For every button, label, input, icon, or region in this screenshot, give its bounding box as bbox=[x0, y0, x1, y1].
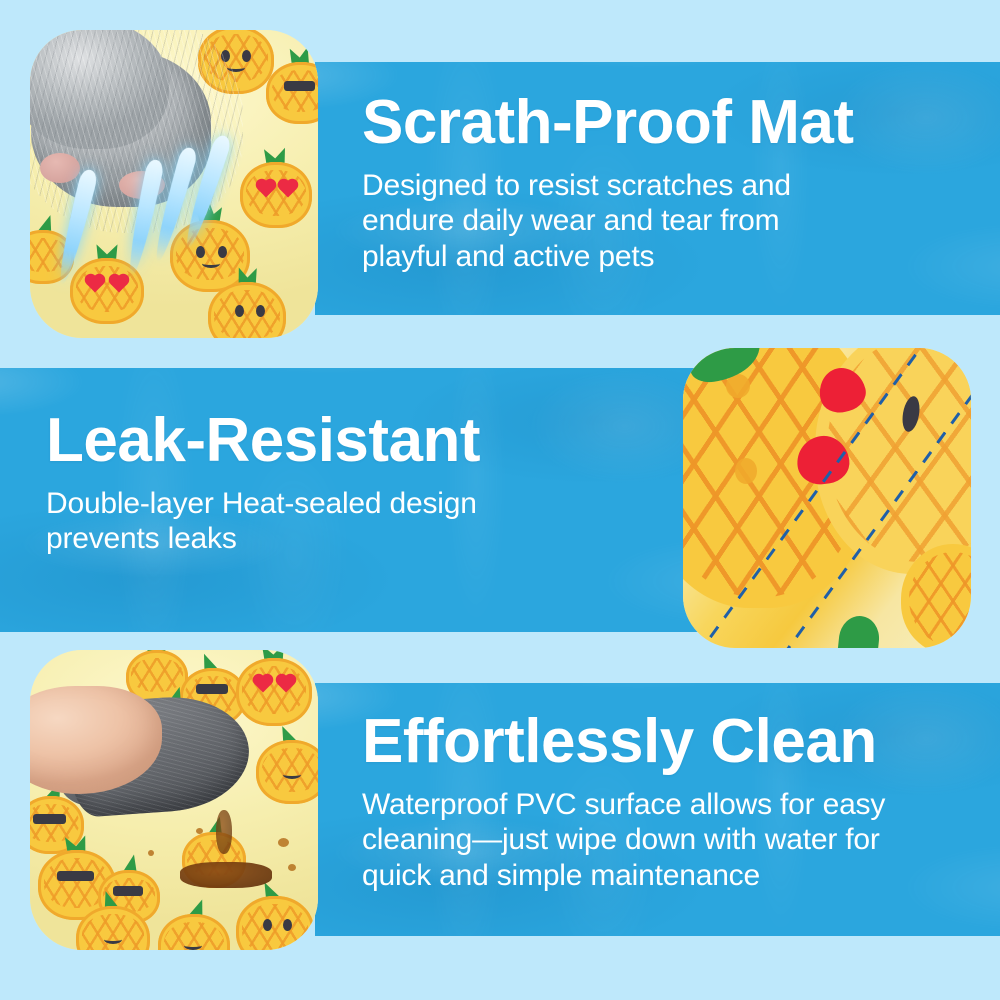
feature-image-1 bbox=[30, 30, 318, 338]
feature-headline-1: Scrath-Proof Mat bbox=[362, 92, 962, 154]
feature-headline-2: Leak-Resistant bbox=[46, 410, 666, 472]
feature-body-3: Waterproof PVC surface allows for easy c… bbox=[362, 787, 942, 893]
feature-panel-effortlessly-clean: Effortlessly Clean Waterproof PVC surfac… bbox=[0, 683, 1000, 936]
feature-text-2: Leak-Resistant Double-layer Heat-sealed … bbox=[46, 410, 666, 557]
feature-image-3 bbox=[30, 650, 318, 950]
spilled-liquid bbox=[180, 862, 272, 888]
feature-image-2 bbox=[683, 348, 971, 648]
feature-body-2: Double-layer Heat-sealed design prevents… bbox=[46, 486, 546, 557]
feature-body-1: Designed to resist scratches and endure … bbox=[362, 168, 832, 274]
feature-panel-scratch-proof: Scrath-Proof Mat Designed to resist scra… bbox=[0, 62, 1000, 338]
feature-text-3: Effortlessly Clean Waterproof PVC surfac… bbox=[362, 711, 982, 893]
feature-headline-3: Effortlessly Clean bbox=[362, 711, 982, 773]
spilled-drip bbox=[216, 810, 232, 854]
feature-panel-leak-resistant: Leak-Resistant Double-layer Heat-sealed … bbox=[0, 368, 1000, 632]
cat-paw bbox=[30, 30, 243, 233]
feature-text-1: Scrath-Proof Mat Designed to resist scra… bbox=[362, 92, 962, 274]
